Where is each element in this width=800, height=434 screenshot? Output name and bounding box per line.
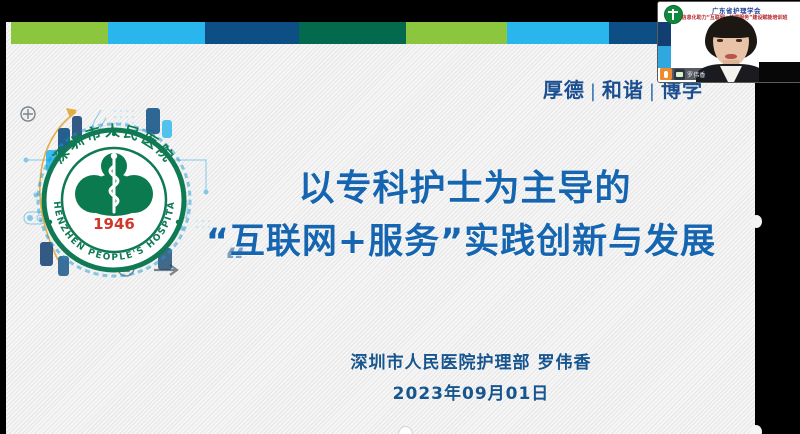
motto-separator-2: | <box>644 81 661 102</box>
color-bar-segment-3 <box>205 22 299 44</box>
slide-title-line-1: 以专科护士为主导的 <box>181 162 741 216</box>
color-bar-segment-2 <box>108 22 205 44</box>
presentation-slide: “ 深圳市人民医院 SHENZHEN PEOPLE'S HOSPITAL <box>6 22 755 434</box>
right-letterbox-bar <box>755 60 800 434</box>
participant-name-bar: 罗伟香 <box>660 68 709 80</box>
microphone-icon[interactable] <box>660 68 672 80</box>
slide-title: 以专科护士为主导的 “互联网+服务”实践创新与发展 <box>181 162 741 269</box>
participant-name-label: 罗伟香 <box>687 70 706 79</box>
hospital-emblem: 深圳市人民医院 SHENZHEN PEOPLE'S HOSPITAL <box>28 114 200 286</box>
motto-separator-1: | <box>585 81 602 102</box>
color-bar-segment-1 <box>11 22 108 44</box>
color-bar-segment-6 <box>507 22 609 44</box>
video-backdrop-stripe-blue <box>658 46 671 68</box>
camera-icon[interactable] <box>674 69 685 80</box>
slide-color-bar <box>11 22 755 44</box>
left-letterbox-bar <box>0 0 6 434</box>
slide-presenter-block: 深圳市人民医院护理部 罗伟香 2023年09月01日 <box>256 347 686 410</box>
right-edge-notch <box>751 215 762 228</box>
color-bar-segment-5 <box>406 22 507 44</box>
screen-share-view: “ 深圳市人民医院 SHENZHEN PEOPLE'S HOSPITAL <box>0 0 800 434</box>
color-bar-segment-4 <box>299 22 406 44</box>
slide-bottom-artifact <box>398 426 413 434</box>
slide-title-line-2: “互联网+服务”实践创新与发展 <box>181 216 741 269</box>
presenter-affiliation-name: 深圳市人民医院护理部 罗伟香 <box>256 347 686 379</box>
participant-video-tile[interactable]: 广东省护理学会 信息化助力“互联网+护理服务”建设赋能培训班 罗伟香 <box>657 1 800 83</box>
bottom-right-notch <box>750 425 762 434</box>
presenter-date: 2023年09月01日 <box>256 379 686 410</box>
svg-text:1946: 1946 <box>93 215 135 233</box>
video-tile-corner-shadow <box>759 62 800 82</box>
motto-word-2: 和谐 <box>602 78 644 102</box>
motto-word-1: 厚德 <box>543 78 585 102</box>
video-backdrop-stripe-dark <box>658 22 671 46</box>
